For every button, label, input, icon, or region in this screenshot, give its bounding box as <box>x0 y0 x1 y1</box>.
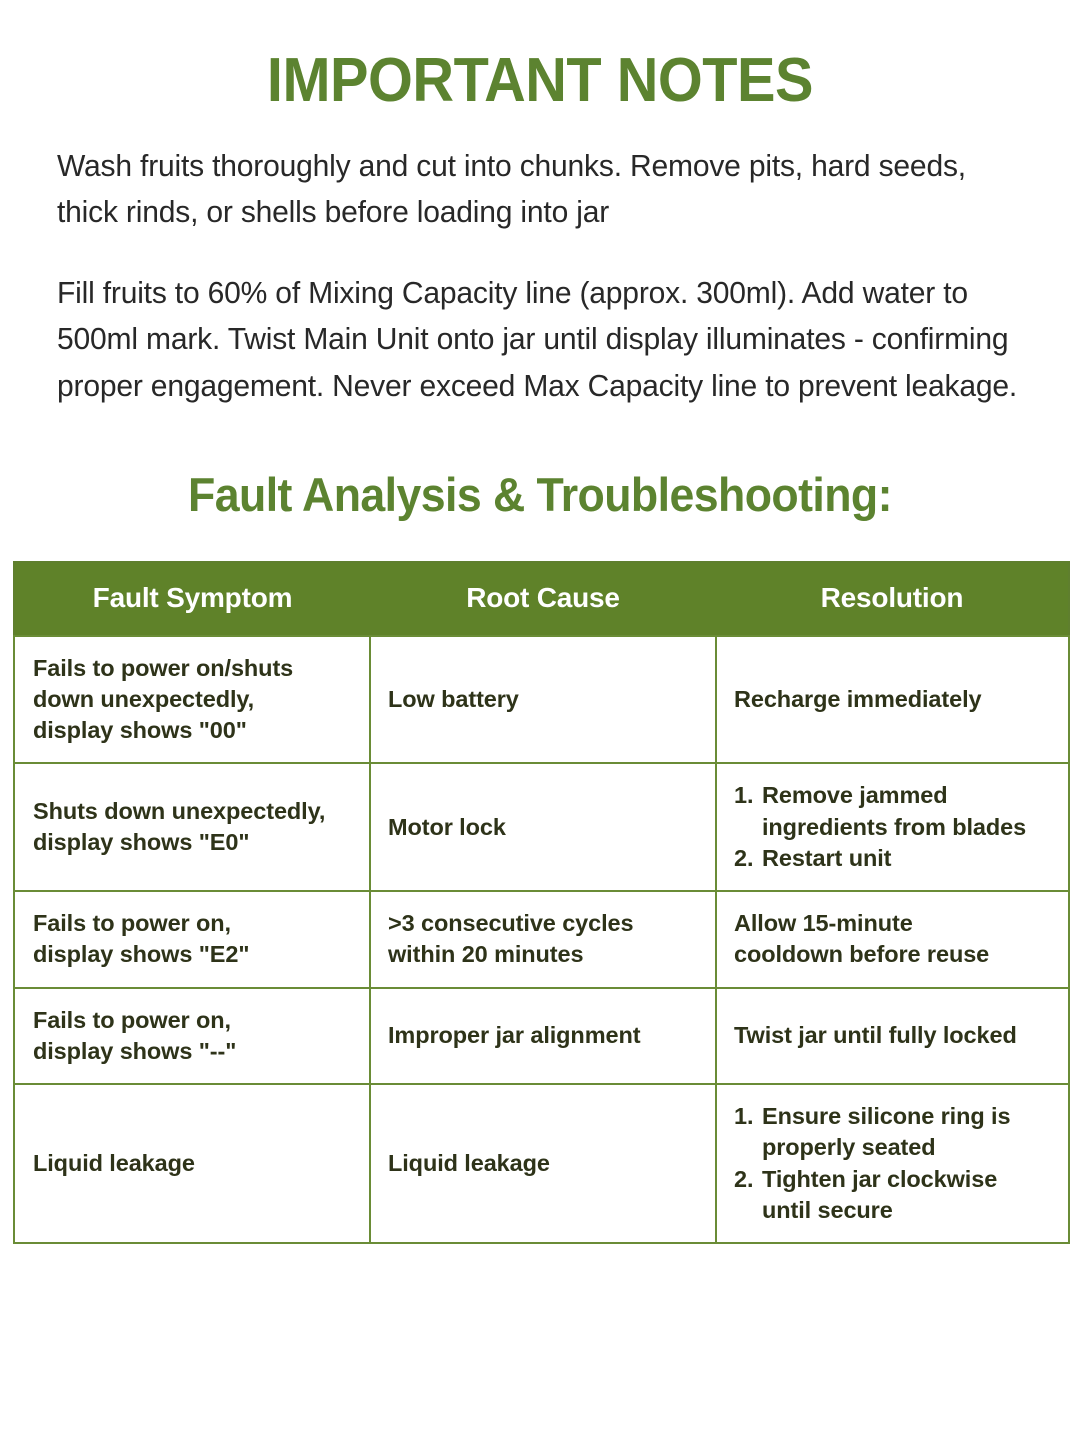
resolution-step: Remove jammed ingredients from blades <box>734 780 1052 843</box>
notes-paragraph-2: Fill fruits to 60% of Mixing Capacity li… <box>57 270 1017 409</box>
cell-resolution: Ensure silicone ring is properly seated … <box>716 1084 1069 1243</box>
cell-fault-symptom: Fails to power on/shuts down unexpectedl… <box>14 636 370 764</box>
resolution-step: Restart unit <box>734 843 1052 874</box>
symptom-line: display shows "E0" <box>33 827 353 858</box>
cell-fault-symptom: Fails to power on, display shows "E2" <box>14 891 370 988</box>
symptom-line: display shows "00" <box>33 715 353 746</box>
cell-root-cause: Improper jar alignment <box>370 988 716 1085</box>
symptom-line: display shows "--" <box>33 1036 353 1067</box>
cell-resolution: Allow 15-minute cooldown before reuse <box>716 891 1069 988</box>
table-row: Liquid leakage Liquid leakage Ensure sil… <box>14 1084 1069 1243</box>
cause-line: >3 consecutive cycles <box>388 908 699 939</box>
symptom-line: Fails to power on/shuts <box>33 653 353 684</box>
cell-fault-symptom: Fails to power on, display shows "--" <box>14 988 370 1085</box>
resolution-steps-list: Ensure silicone ring is properly seated … <box>734 1101 1052 1226</box>
resolution-steps-list: Remove jammed ingredients from blades Re… <box>734 780 1052 874</box>
column-header-resolution: Resolution <box>716 562 1069 636</box>
cell-root-cause: Liquid leakage <box>370 1084 716 1243</box>
symptom-line: down unexpectedly, <box>33 684 353 715</box>
table-body: Fails to power on/shuts down unexpectedl… <box>14 636 1069 1244</box>
column-header-root-cause: Root Cause <box>370 562 716 636</box>
page-title: IMPORTANT NOTES <box>38 0 1042 113</box>
table-row: Shuts down unexpectedly, display shows "… <box>14 763 1069 891</box>
cell-fault-symptom: Liquid leakage <box>14 1084 370 1243</box>
table-row: Fails to power on/shuts down unexpectedl… <box>14 636 1069 764</box>
resolution-step: Ensure silicone ring is properly seated <box>734 1101 1052 1164</box>
section-heading-fault-analysis: Fault Analysis & Troubleshooting: <box>27 409 1053 521</box>
fault-troubleshooting-table: Fault Symptom Root Cause Resolution Fail… <box>13 561 1070 1245</box>
resolution-line: cooldown before reuse <box>734 939 1052 970</box>
cell-fault-symptom: Shuts down unexpectedly, display shows "… <box>14 763 370 891</box>
notes-paragraph-1: Wash fruits thoroughly and cut into chun… <box>57 143 1017 236</box>
symptom-line: Fails to power on, <box>33 908 353 939</box>
important-notes-body: Wash fruits thoroughly and cut into chun… <box>0 113 1080 409</box>
table-row: Fails to power on, display shows "--" Im… <box>14 988 1069 1085</box>
cell-root-cause: Motor lock <box>370 763 716 891</box>
table-row: Fails to power on, display shows "E2" >3… <box>14 891 1069 988</box>
cell-resolution: Twist jar until fully locked <box>716 988 1069 1085</box>
symptom-line: display shows "E2" <box>33 939 353 970</box>
document-page: IMPORTANT NOTES Wash fruits thoroughly a… <box>0 0 1080 1450</box>
table-header: Fault Symptom Root Cause Resolution <box>14 562 1069 636</box>
cell-resolution: Recharge immediately <box>716 636 1069 764</box>
symptom-line: Fails to power on, <box>33 1005 353 1036</box>
cell-root-cause: >3 consecutive cycles within 20 minutes <box>370 891 716 988</box>
cell-resolution: Remove jammed ingredients from blades Re… <box>716 763 1069 891</box>
column-header-fault-symptom: Fault Symptom <box>14 562 370 636</box>
resolution-line: Allow 15-minute <box>734 908 1052 939</box>
symptom-line: Liquid leakage <box>33 1148 353 1179</box>
symptom-line: Shuts down unexpectedly, <box>33 796 353 827</box>
cause-line: within 20 minutes <box>388 939 699 970</box>
table-header-row: Fault Symptom Root Cause Resolution <box>14 562 1069 636</box>
cell-root-cause: Low battery <box>370 636 716 764</box>
fault-table-wrapper: Fault Symptom Root Cause Resolution Fail… <box>0 521 1080 1245</box>
resolution-step: Tighten jar clockwise until secure <box>734 1164 1052 1227</box>
